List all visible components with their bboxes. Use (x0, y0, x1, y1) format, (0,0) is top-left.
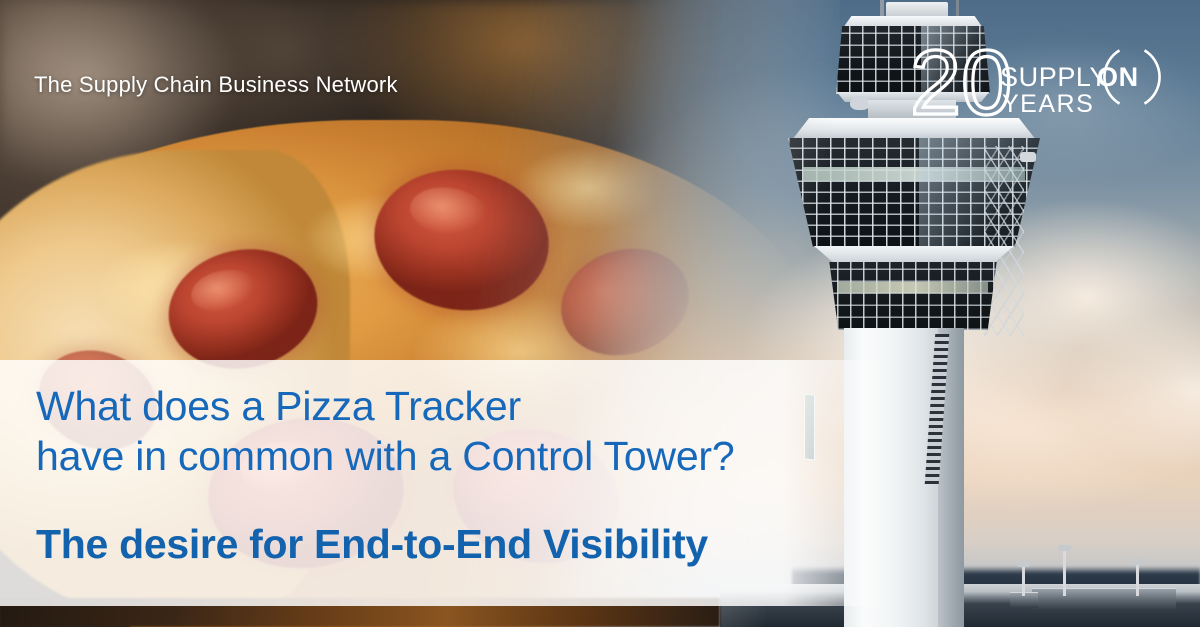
tagline: The Supply Chain Business Network (34, 72, 398, 98)
tower-lower-deck (824, 262, 1002, 330)
lit-window-band (838, 282, 988, 293)
headline-line-1: What does a Pizza Tracker (36, 383, 521, 429)
light-pole (1136, 564, 1139, 596)
tower-radar-dome (850, 96, 870, 110)
glass-grid (824, 262, 1002, 330)
tower-roof-equipment (886, 2, 948, 18)
subheadline: The desire for End-to-End Visibility (36, 519, 876, 569)
logo-brand-supply: SUPPLY (1000, 62, 1108, 92)
headline: What does a Pizza Tracker have in common… (36, 381, 866, 481)
tower-gallery-underside (810, 246, 1018, 264)
headline-line-2: have in common with a Control Tower? (36, 431, 866, 481)
supplyon-logo: 20 YEARS SUPPLY ON (908, 28, 1180, 132)
logo-anniversary-label: YEARS (1002, 90, 1094, 118)
banner-image: The Supply Chain Business Network What d… (0, 0, 1200, 627)
logo-anniversary-number: 20 (910, 32, 1012, 134)
